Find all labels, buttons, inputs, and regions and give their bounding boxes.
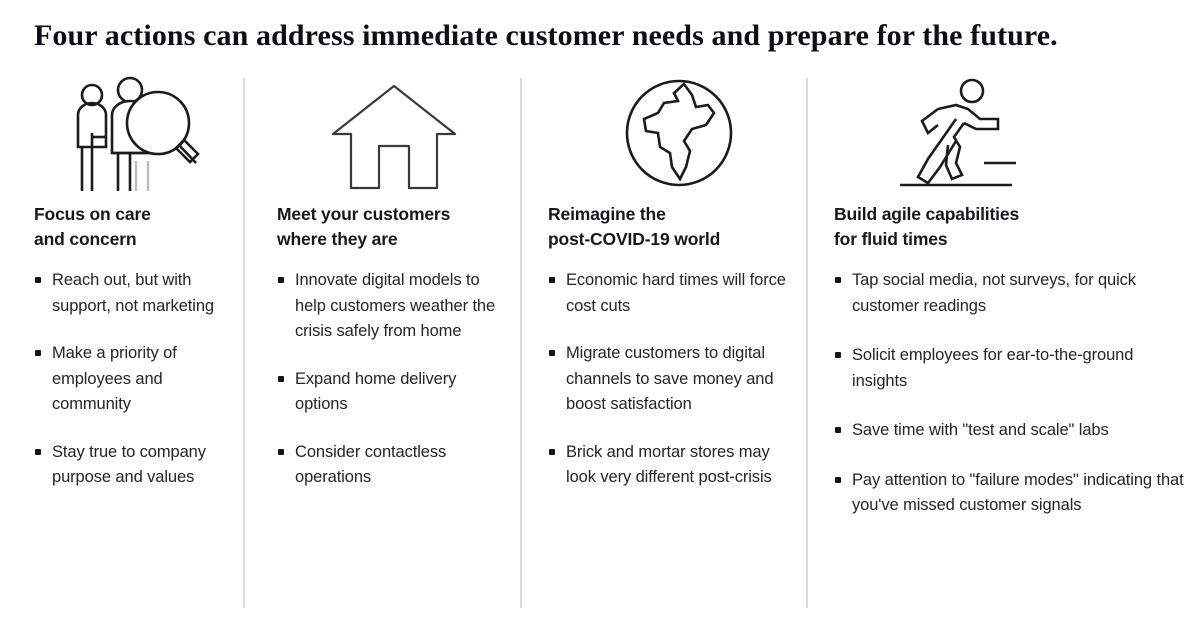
list-item: Pay attention to "failure modes" indicat… [834, 468, 1188, 519]
column-heading-line: where they are [277, 227, 510, 252]
column-heading: Meet your customers where they are [277, 202, 510, 252]
people-magnifier-icon [34, 70, 233, 198]
column-heading-line: post-COVID-19 world [548, 227, 796, 252]
slide-canvas: Four actions can address immediate custo… [0, 0, 1200, 624]
column-reimagine-post-covid: Reimagine the post-COVID-19 world Econom… [522, 70, 808, 624]
list-item: Economic hard times will force cost cuts [548, 268, 796, 319]
list-item: Innovate digital models to help customer… [277, 268, 510, 345]
running-person-icon [834, 70, 1188, 198]
bullet-list: Reach out, but with support, not marketi… [34, 268, 233, 491]
columns-container: Focus on care and concern Reach out, but… [0, 70, 1200, 624]
list-item: Stay true to company purpose and values [34, 440, 233, 491]
column-heading-line: and concern [34, 227, 233, 252]
list-item: Reach out, but with support, not marketi… [34, 268, 233, 319]
column-heading: Focus on care and concern [34, 202, 233, 252]
page-title: Four actions can address immediate custo… [34, 18, 1184, 54]
list-item: Save time with "test and scale" labs [834, 418, 1188, 444]
column-heading-line: Build agile capabilities [834, 202, 1188, 227]
list-item: Expand home delivery options [277, 367, 510, 418]
column-heading-line: for fluid times [834, 227, 1188, 252]
list-item: Consider contactless operations [277, 440, 510, 491]
bullet-list: Innovate digital models to help customer… [277, 268, 510, 491]
list-item: Tap social media, not surveys, for quick… [834, 268, 1188, 319]
house-icon [277, 70, 510, 198]
column-focus-on-care: Focus on care and concern Reach out, but… [0, 70, 245, 624]
list-item: Solicit employees for ear-to-the-ground … [834, 343, 1188, 394]
bullet-list: Tap social media, not surveys, for quick… [834, 268, 1188, 519]
bullet-list: Economic hard times will force cost cuts… [548, 268, 796, 491]
column-heading-line: Meet your customers [277, 202, 510, 227]
column-heading: Build agile capabilities for fluid times [834, 202, 1188, 252]
column-heading: Reimagine the post-COVID-19 world [548, 202, 796, 252]
column-heading-line: Reimagine the [548, 202, 796, 227]
globe-icon [548, 70, 796, 198]
column-build-agile-capabilities: Build agile capabilities for fluid times… [808, 70, 1200, 624]
list-item: Brick and mortar stores may look very di… [548, 440, 796, 491]
column-meet-your-customers: Meet your customers where they are Innov… [245, 70, 522, 624]
list-item: Migrate customers to digital channels to… [548, 341, 796, 418]
column-heading-line: Focus on care [34, 202, 233, 227]
list-item: Make a priority of employees and communi… [34, 341, 233, 418]
